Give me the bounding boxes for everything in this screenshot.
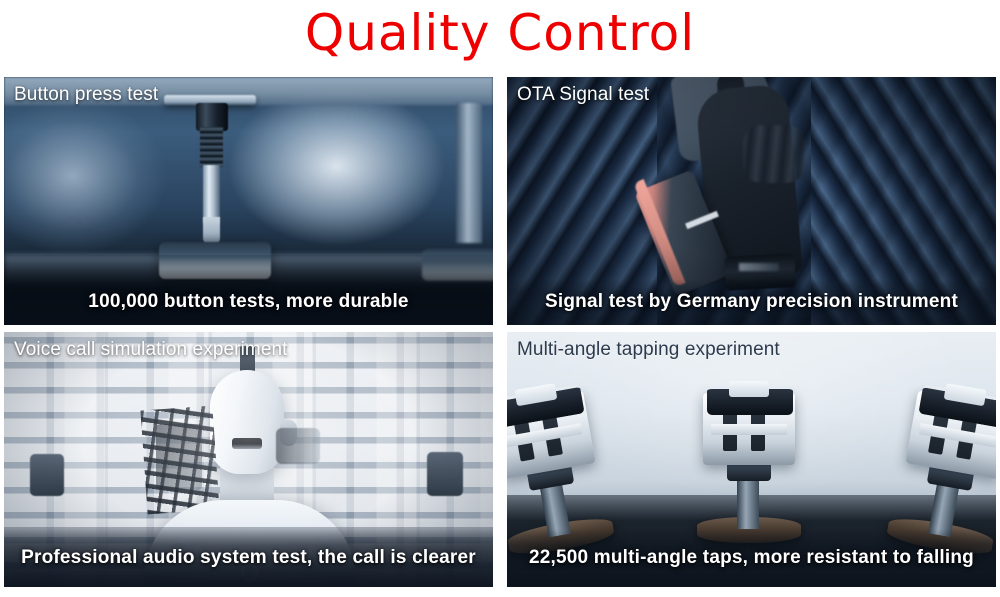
caption-bar-button-press-test: 100,000 button tests, more durable	[4, 279, 493, 325]
panel-label-voice-call-simulation: Voice call simulation experiment	[14, 339, 288, 361]
press-tip	[203, 217, 220, 245]
quality-control-page: Quality Control Button press test 100,0	[0, 0, 1000, 597]
tap-fixture-center	[689, 383, 809, 543]
panel-ota-signal-test: OTA Signal test Signal test by Germany p…	[507, 77, 996, 325]
caption-multi-angle-tapping: 22,500 multi-angle taps, more resistant …	[529, 547, 974, 569]
panel-voice-call-simulation: Voice call simulation experiment Profess…	[4, 332, 493, 587]
fixture-crossbar	[711, 424, 787, 435]
panel-button-press-test: Button press test 100,000 button tests, …	[4, 77, 493, 325]
caption-bar-multi-angle-tapping: 22,500 multi-angle taps, more resistant …	[507, 529, 996, 587]
page-title-bar: Quality Control	[0, 0, 1000, 70]
panel-label-button-press-test: Button press test	[14, 84, 158, 106]
fixture-top-cap	[729, 381, 769, 397]
caption-bar-ota-signal-test: Signal test by Germany precision instrum…	[507, 279, 996, 325]
press-machine-side-post	[456, 103, 482, 243]
panel-label-ota-signal-test: OTA Signal test	[517, 84, 649, 106]
caption-button-press-test: 100,000 button tests, more durable	[88, 291, 408, 313]
quality-control-panel-grid: Button press test 100,000 button tests, …	[4, 77, 996, 593]
page-title: Quality Control	[305, 8, 695, 58]
caption-voice-call-simulation: Professional audio system test, the call…	[21, 547, 476, 569]
panel-label-multi-angle-tapping: Multi-angle tapping experiment	[517, 339, 780, 361]
press-shaft	[203, 165, 220, 223]
panel-multi-angle-tapping: Multi-angle tapping experiment 22,500 mu…	[507, 332, 996, 587]
press-threaded-rod	[200, 127, 223, 167]
caption-bar-voice-call-simulation: Professional audio system test, the call…	[4, 529, 493, 587]
caption-ota-signal-test: Signal test by Germany precision instrum…	[545, 291, 958, 313]
